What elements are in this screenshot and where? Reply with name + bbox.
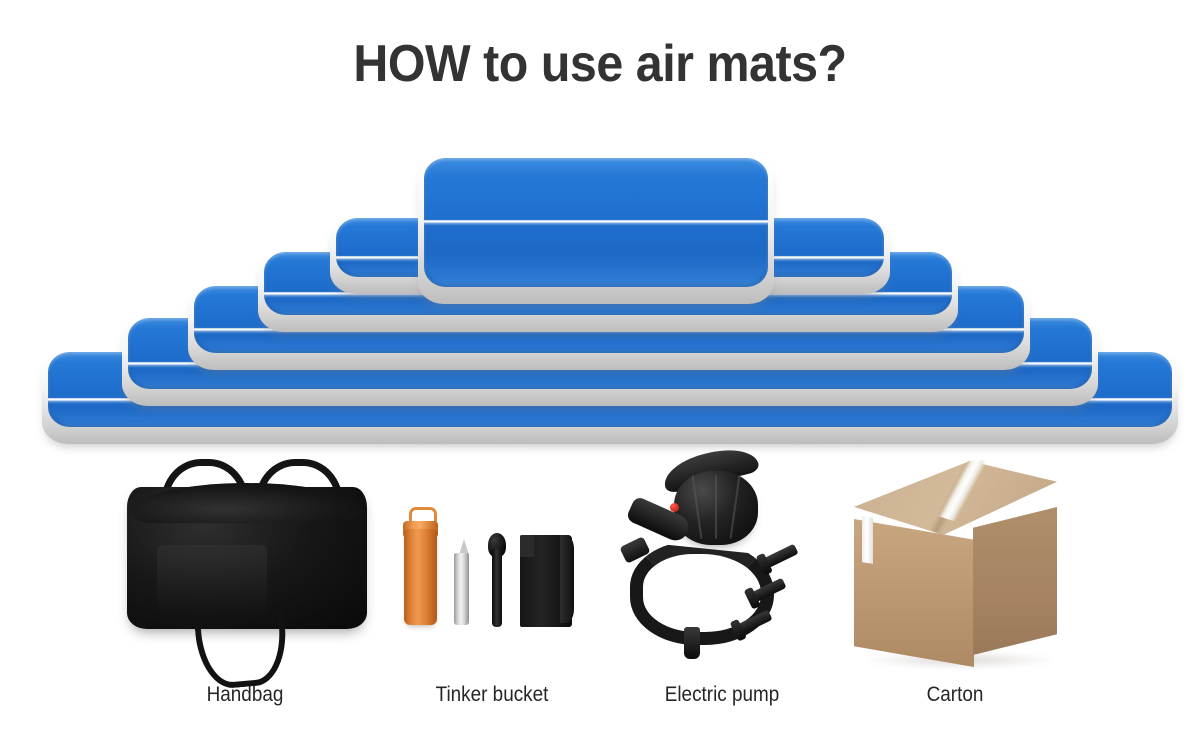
accessory-carton[interactable]: Carton <box>840 445 1070 745</box>
pump-adapter <box>684 627 700 659</box>
air-pump-icon <box>612 445 832 677</box>
accessory-tinker-bucket[interactable]: Tinker bucket <box>392 445 592 745</box>
cardboard-box-icon <box>840 445 1070 677</box>
mat-stack <box>0 140 1200 450</box>
mat-seam-line <box>424 220 768 223</box>
repair-kit-icon <box>392 445 592 677</box>
accessory-handbag[interactable]: Handbag <box>105 445 385 745</box>
bag-shoulder-strap <box>194 611 290 691</box>
carton-side-face <box>973 507 1057 655</box>
repair-patch-curl <box>560 535 574 623</box>
accessory-label-carton: Carton <box>852 683 1059 707</box>
pump-rib <box>715 475 717 539</box>
repair-patch-fold <box>520 535 534 557</box>
accessory-label-handbag: Handbag <box>119 683 371 707</box>
pump-power-switch[interactable] <box>670 503 679 512</box>
page-title: HOW to use air mats? <box>42 34 1158 94</box>
accessory-label-electric-pump: Electric pump <box>623 683 821 707</box>
air-mat-smallest[interactable] <box>418 158 774 304</box>
pump-nozzle <box>761 544 798 570</box>
accessory-label-tinker-bucket: Tinker bucket <box>402 683 582 707</box>
accessories-row: Handbag Tinker bucket <box>0 445 1200 745</box>
glue-tube <box>454 553 469 625</box>
orange-canister <box>404 529 437 625</box>
applicator-handle <box>492 549 502 627</box>
bag-side-panel <box>157 545 267 617</box>
duffel-bag-icon <box>105 445 385 677</box>
accessory-electric-pump[interactable]: Electric pump <box>612 445 832 745</box>
packing-tape-flap <box>862 516 873 564</box>
